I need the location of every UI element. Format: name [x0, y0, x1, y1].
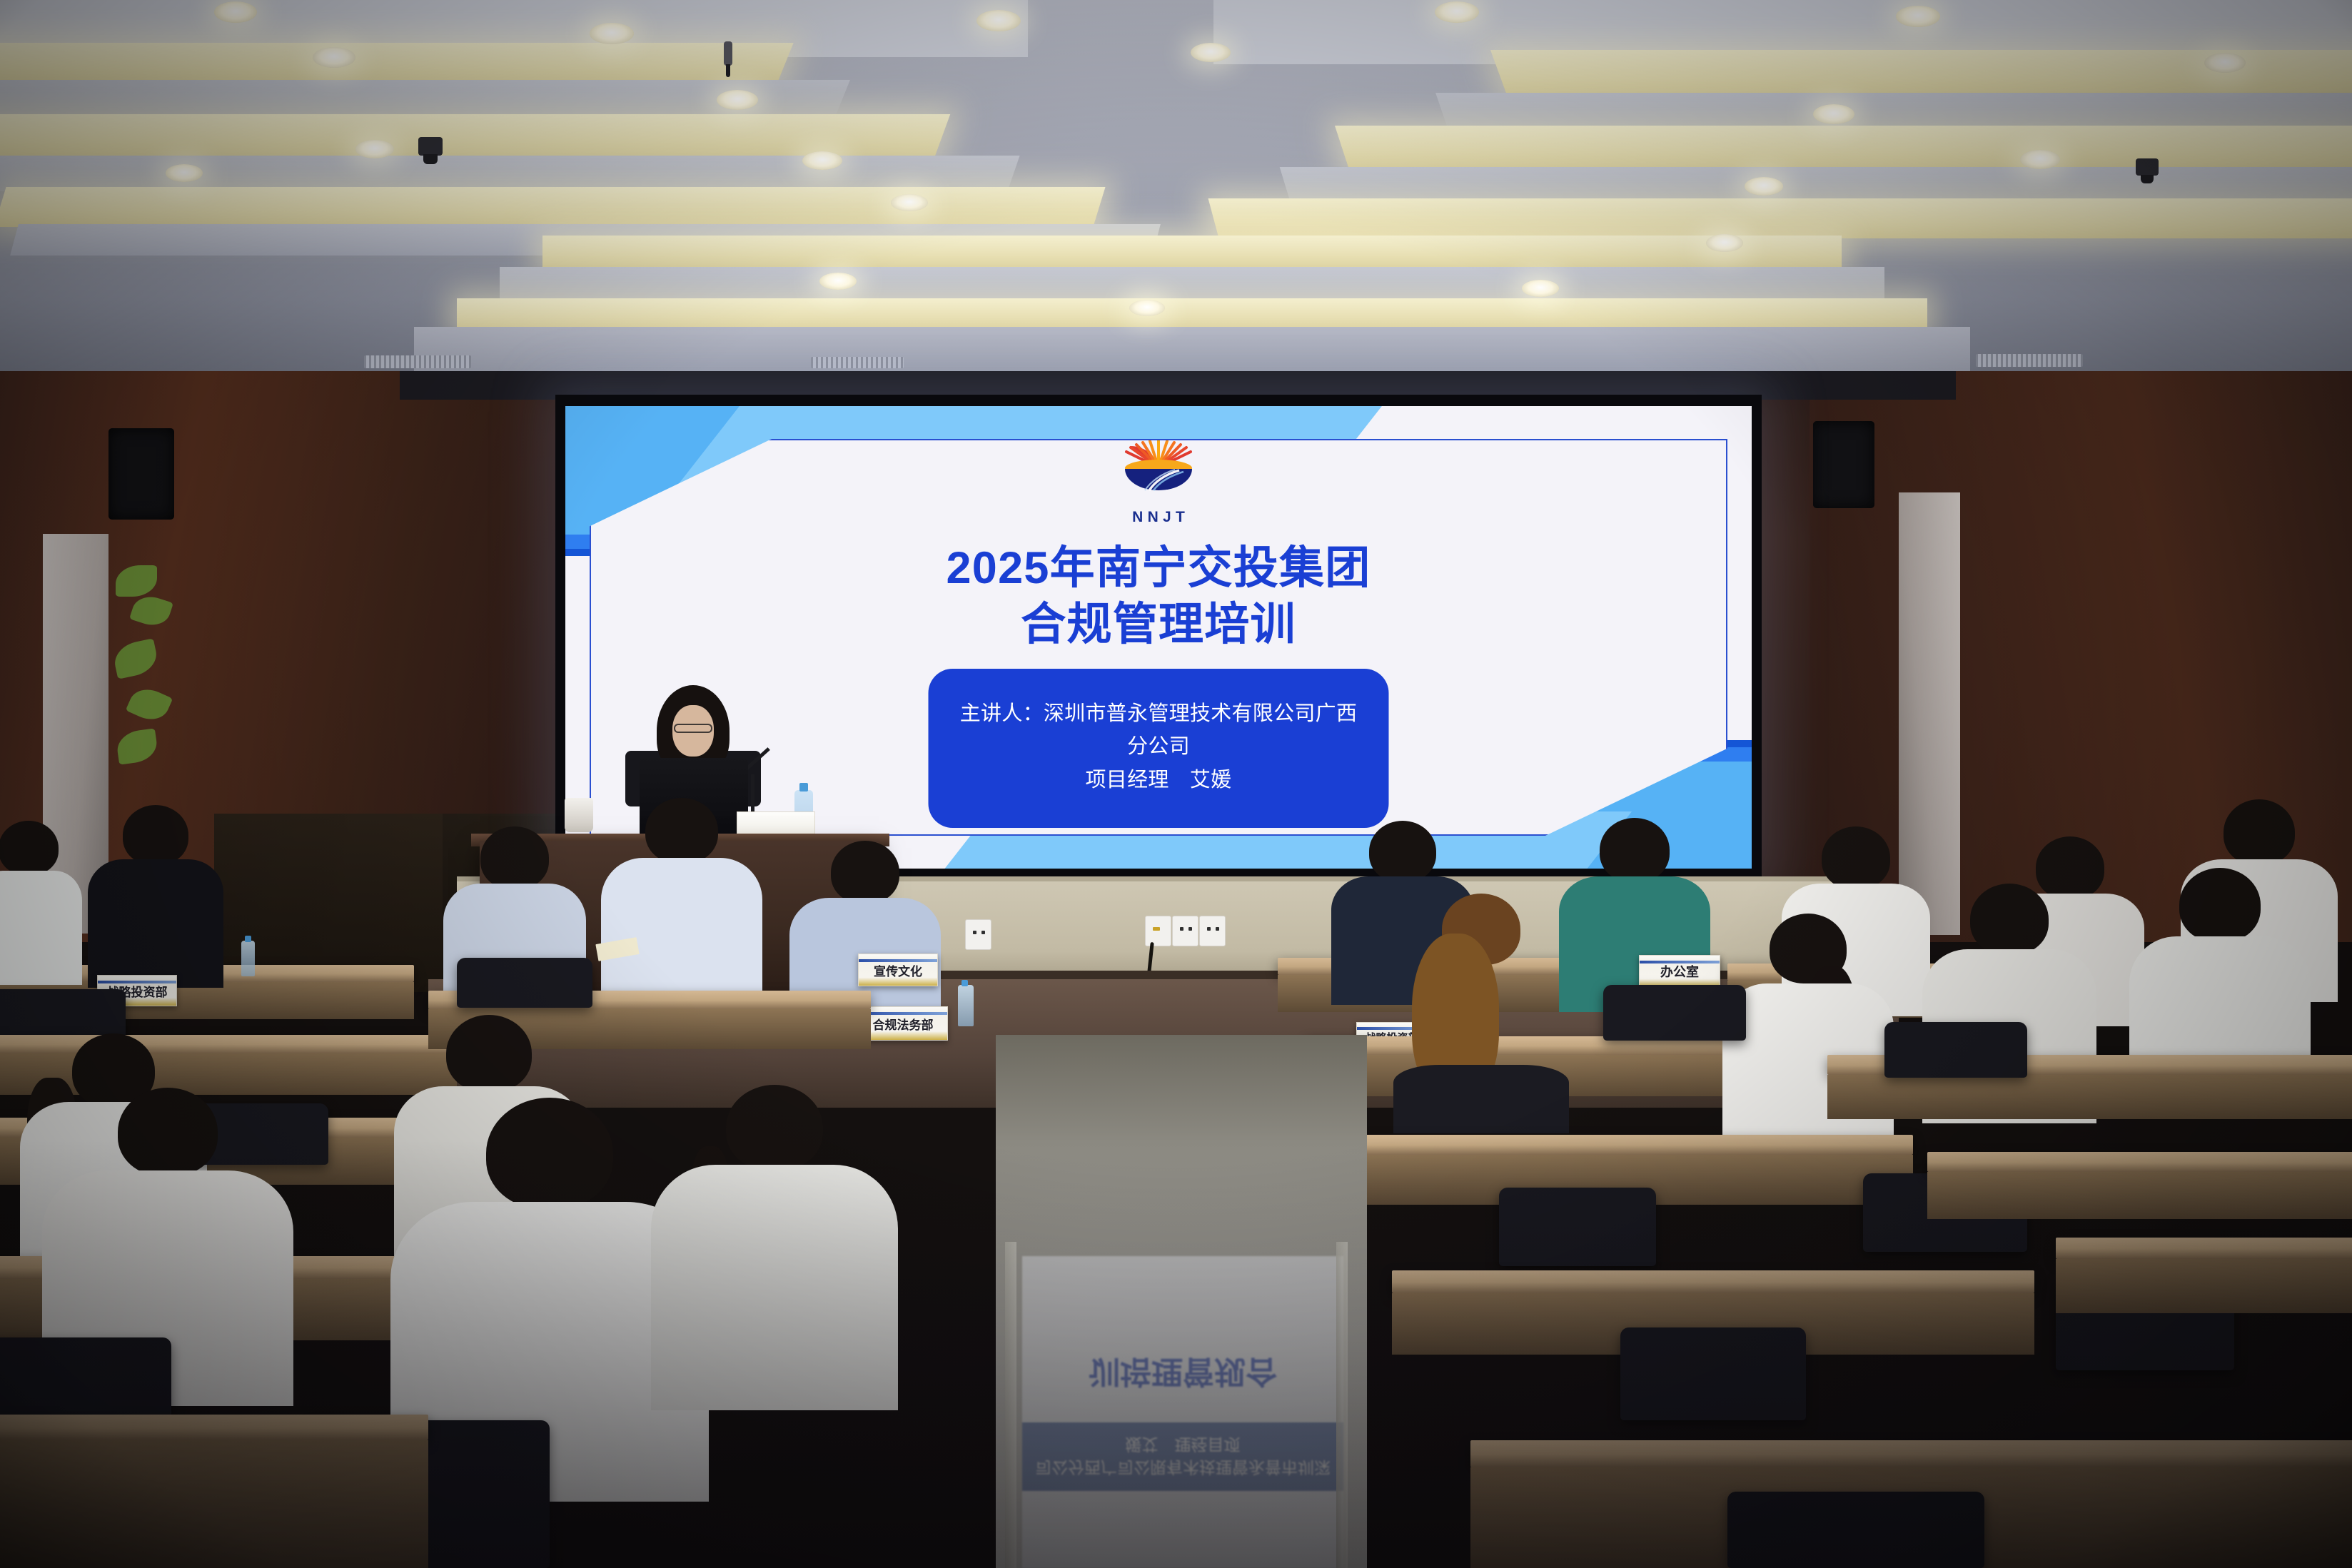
audience-member [1399, 894, 1563, 1122]
ceiling-downlight [355, 140, 394, 158]
person-head [2179, 868, 2261, 942]
desk-front [0, 1440, 428, 1568]
desk [1392, 1270, 2034, 1293]
wall-speaker [108, 428, 174, 520]
reflected-title: 训培理管规合 [1022, 1352, 1343, 1391]
person-torso [88, 859, 223, 988]
ceiling-downlight [1191, 43, 1231, 62]
ceiling-downlight [1522, 280, 1559, 297]
ceiling-band [0, 156, 1020, 191]
presenter-glasses-icon [674, 724, 712, 733]
ceiling-band [500, 267, 1884, 301]
reflected-subtitle-line-1: 司公分西广司公限有术技理管永普市圳深 [1022, 1455, 1343, 1480]
person-head [831, 841, 899, 904]
person-head [1600, 818, 1670, 882]
ceiling-downlight [1896, 6, 1940, 27]
ceiling-band [1280, 167, 2352, 201]
ceiling-air-grille [364, 355, 471, 368]
chair [1603, 985, 1746, 1041]
chair [1499, 1188, 1656, 1266]
person-head [645, 798, 718, 864]
reflected-slide: 司公分西广司公限有术技理管永普市圳深 媛艾 理经目项 训培理管规合 [1022, 1256, 1343, 1568]
ceiling-downlight [717, 90, 758, 110]
security-camera-icon [418, 137, 443, 156]
chair [1620, 1327, 1806, 1420]
desk-front [1927, 1172, 2352, 1219]
ceiling-band [1435, 93, 2352, 130]
ceiling-downlight [802, 151, 842, 170]
ceiling-downlight [819, 273, 857, 290]
ceiling-cove-light [0, 43, 794, 84]
desk [2056, 1238, 2352, 1259]
slide-title-line-2: 合规管理培训 [565, 597, 1752, 653]
logo-wordmark: NNJT [1105, 509, 1212, 526]
ceiling-downlight [2204, 53, 2246, 73]
table-nameplate: 办公室 [1639, 955, 1720, 988]
desk [1927, 1152, 2352, 1172]
slide-subtitle-line-2: 项目经理 艾媛 [950, 764, 1368, 796]
desk-front [1827, 1075, 2352, 1119]
water-bottle [241, 941, 255, 976]
floor-reflection: 司公分西广司公限有术技理管永普市圳深 媛艾 理经目项 训培理管规合 [1022, 1256, 1343, 1568]
person-torso [1393, 1065, 1569, 1133]
meeting-room-photo: NNJT 2025年南宁交投集团 合规管理培训 主讲人：深圳市普永管理技术有限公… [0, 0, 2352, 1568]
slide-subtitle-box: 主讲人：深圳市普永管理技术有限公司广西分公司 项目经理 艾媛 [929, 669, 1389, 828]
desk [1470, 1440, 2352, 1467]
person-torso [651, 1165, 898, 1410]
slide-title: 2025年南宁交投集团 合规管理培训 [565, 540, 1752, 654]
person-head [0, 821, 59, 875]
desk [0, 1415, 428, 1440]
person-head [1822, 826, 1890, 889]
person-head [726, 1085, 823, 1170]
ceiling-downlight [1129, 300, 1165, 316]
ceiling-cove-light [0, 114, 950, 158]
company-logo: NNJT [1105, 440, 1212, 526]
ceiling-cove-light [1335, 126, 2352, 170]
person-head [1369, 821, 1436, 882]
ceiling-downlight [166, 164, 203, 182]
ceiling-air-grille [1976, 354, 2083, 367]
power-outlet[interactable] [1199, 916, 1226, 946]
potted-plant [114, 557, 214, 792]
ceiling-air-grille [811, 357, 904, 368]
power-outlet[interactable] [965, 919, 991, 950]
ceiling-downlight [2020, 150, 2060, 169]
wall-speaker [1813, 421, 1874, 508]
desk [1356, 1135, 1913, 1155]
ceiling-cove-light [542, 236, 1842, 268]
audience-member [91, 805, 220, 983]
table-nameplate: 宣传文化 [858, 954, 938, 986]
security-camera-icon [2136, 158, 2159, 176]
ceiling-cove-light [457, 298, 1927, 330]
aisle-rail [1005, 1242, 1016, 1568]
power-outlet[interactable] [1145, 916, 1171, 946]
nnjt-logo-icon [1105, 440, 1212, 507]
power-outlet[interactable] [1172, 916, 1198, 946]
ceiling-downlight [1706, 234, 1743, 252]
aisle-rail [1336, 1242, 1348, 1568]
person-head [2224, 799, 2295, 865]
audience-member [607, 798, 757, 1012]
table-nameplate: 合规法务部 [858, 1006, 948, 1041]
ceiling-downlight [1745, 177, 1783, 196]
reflected-subtitle-line-2: 媛艾 理经目项 [1022, 1432, 1343, 1457]
ceiling-downlight [891, 194, 928, 211]
ceiling-downlight [976, 10, 1021, 31]
chair [457, 958, 592, 1008]
person-torso [0, 871, 82, 985]
water-bottle [958, 985, 974, 1026]
audience-member [657, 1085, 892, 1406]
person-head [118, 1088, 218, 1176]
ceiling-downlight [214, 1, 257, 23]
ceiling [0, 0, 2352, 400]
ceiling-cove-light [0, 187, 1106, 227]
ceiling-cove-light [1208, 198, 2352, 238]
person-head [486, 1098, 613, 1209]
chair [1727, 1492, 1984, 1568]
person-head [446, 1015, 532, 1092]
sprinkler-icon [724, 41, 732, 66]
ceiling-downlight [590, 23, 634, 44]
person-head [123, 805, 188, 865]
person-head [1970, 884, 2049, 955]
slide-title-line-1: 2025年南宁交投集团 [565, 540, 1752, 597]
slide-subtitle-line-1: 主讲人：深圳市普永管理技术有限公司广西分公司 [950, 697, 1368, 764]
chair [1884, 1022, 2027, 1078]
person-head [480, 826, 549, 889]
desk-front [2056, 1259, 2352, 1313]
ceiling-downlight [1813, 104, 1854, 124]
audience-member [0, 821, 79, 978]
ceiling-downlight [1435, 1, 1479, 23]
ceiling-band [414, 327, 1970, 371]
ceiling-downlight [313, 47, 355, 68]
